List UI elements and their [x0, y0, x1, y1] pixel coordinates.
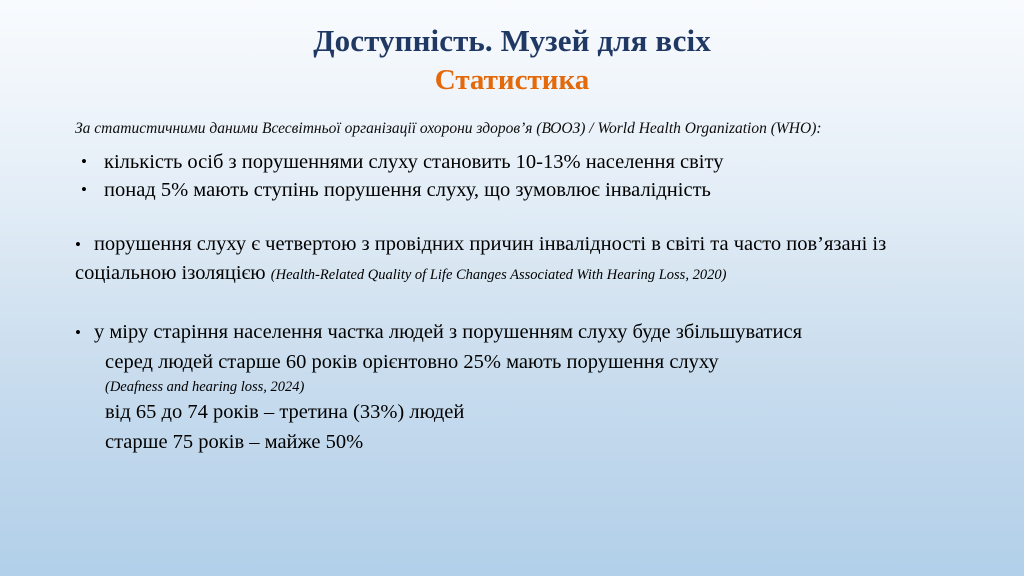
bullet-icon: •	[81, 176, 87, 204]
page-title: Доступність. Музей для всіх	[0, 22, 1024, 60]
bullet-icon: •	[75, 235, 94, 254]
sub-list-item: старше 75 років – майже 50%	[75, 427, 955, 457]
slide-body: За статистичними даними Всесвітньої орга…	[75, 118, 955, 457]
bullet-icon: •	[75, 323, 94, 342]
page-subtitle: Статистика	[0, 62, 1024, 98]
list-item: • кількість осіб з порушеннями слуху ста…	[75, 148, 955, 176]
list-item-label: понад 5% мають ступінь порушення слуху, …	[104, 179, 711, 201]
citation-reference: (Health-Related Quality of Life Changes …	[271, 267, 727, 283]
list-item: •у міру старіння населення частка людей …	[75, 318, 955, 347]
spacer	[75, 288, 955, 318]
list-item-label: у міру старіння населення частка людей з…	[94, 321, 802, 343]
bullet-icon: •	[81, 148, 87, 176]
spacer	[75, 204, 955, 230]
list-item: • понад 5% мають ступінь порушення слуху…	[75, 176, 955, 204]
sub-list-item: серед людей старше 60 років орієнтовно 2…	[75, 347, 955, 377]
slide-title-block: Доступність. Музей для всіх Статистика	[0, 22, 1024, 98]
citation-reference: (Deafness and hearing loss, 2024)	[75, 377, 955, 397]
intro-paragraph: За статистичними даними Всесвітньої орга…	[75, 118, 951, 139]
list-item-label: кількість осіб з порушеннями слуху стано…	[104, 151, 723, 173]
list-item: •порушення слуху є четвертою з провідних…	[75, 230, 955, 288]
presentation-slide: Доступність. Музей для всіх Статистика З…	[0, 0, 1024, 576]
sub-list-item: від 65 до 74 років – третина (33%) людей	[75, 397, 955, 427]
